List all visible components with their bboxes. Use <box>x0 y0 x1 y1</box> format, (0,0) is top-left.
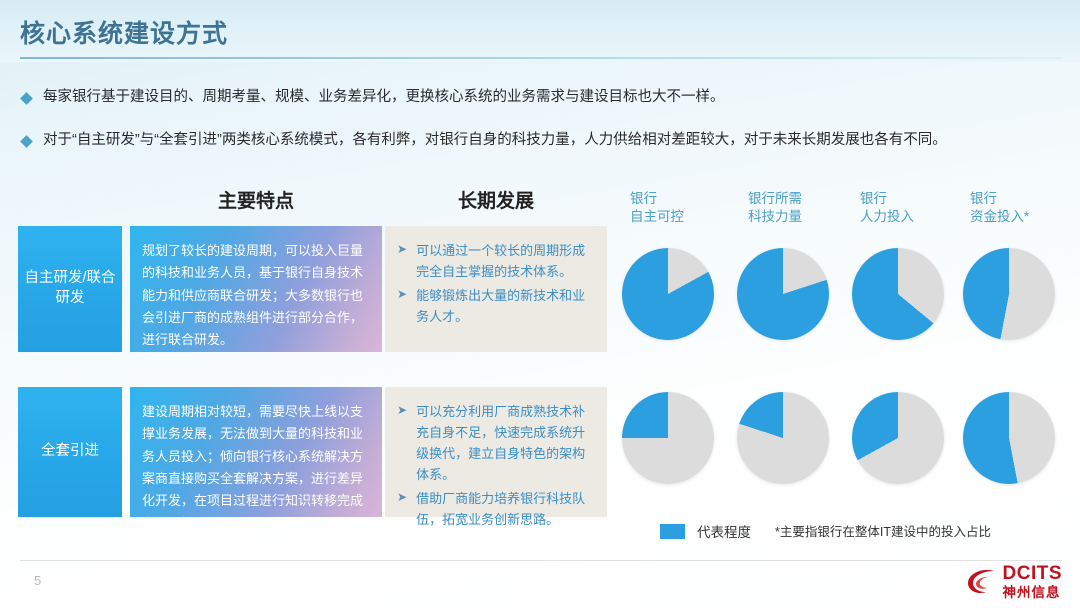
row-label-full-import: 全套引进 <box>18 387 122 517</box>
pie-chart-r0-c3 <box>963 248 1055 340</box>
long-term-text: 借助厂商能力培养银行科技队伍，拓宽业务创新思路。 <box>416 488 593 530</box>
pie-column-header-2: 银行 人力投入 <box>860 190 914 226</box>
page-title: 核心系统建设方式 <box>20 14 228 50</box>
arrow-bullet-icon: ➤ <box>397 488 407 507</box>
pie-header-line1: 银行 <box>970 190 1029 208</box>
legend-swatch-icon <box>660 524 685 539</box>
diamond-bullet-icon <box>20 92 33 105</box>
long-term-text: 可以充分利用厂商成熟技术补充自身不足，快速完成系统升级换代，建立自身特色的架构体… <box>416 401 593 485</box>
pie-chart-r0-c1 <box>737 248 829 340</box>
bullet-item-2: 对于“自主研发”与“全套引进”两类核心系统模式，各有利弊，对银行自身的科技力量，… <box>22 131 947 150</box>
row-description-full-import: 建设周期相对较短，需要尽快上线以支撑业务发展，无法做到大量的科技和业务人员投入；… <box>130 387 382 517</box>
footnote: *主要指银行在整体IT建设中的投入占比 <box>775 521 991 540</box>
pie-chart-r1-c3 <box>963 392 1055 484</box>
bullet-text-2: 对于“自主研发”与“全套引进”两类核心系统模式，各有利弊，对银行自身的科技力量，… <box>43 131 947 150</box>
slide-root: 核心系统建设方式 每家银行基于建设目的、周期考量、规模、业务差异化，更换核心系统… <box>0 0 1080 608</box>
row-label-self-developed: 自主研发/联合研发 <box>18 226 122 352</box>
logo-text: DCITS 神州信息 <box>1003 564 1063 600</box>
legend-label: 代表程度 <box>697 521 751 541</box>
pie-header-line2: 人力投入 <box>860 208 914 226</box>
diamond-bullet-icon <box>20 135 33 148</box>
long-term-item: ➤ 可以通过一个较长的周期形成完全自主掌握的技术体系。 <box>397 240 593 282</box>
long-term-item: ➤ 可以充分利用厂商成熟技术补充自身不足，快速完成系统升级换代，建立自身特色的架… <box>397 401 593 485</box>
pie-header-line2: 科技力量 <box>748 208 802 226</box>
pie-header-line1: 银行 <box>630 190 684 208</box>
row-long-term-self-developed: ➤ 可以通过一个较长的周期形成完全自主掌握的技术体系。 ➤ 能够锻炼出大量的新技… <box>385 226 607 352</box>
page-number: 5 <box>34 573 41 588</box>
pie-column-header-0: 银行 自主可控 <box>630 190 684 226</box>
row-description-self-developed: 规划了较长的建设周期，可以投入巨量的科技和业务人员，基于银行自身技术能力和供应商… <box>130 226 382 352</box>
dcits-swoosh-icon <box>964 565 998 599</box>
column-header-features: 主要特点 <box>130 186 382 213</box>
title-divider <box>20 57 1062 59</box>
pie-header-line2: 资金投入* <box>970 208 1029 226</box>
pie-header-line1: 银行 <box>860 190 914 208</box>
pie-chart-r1-c2 <box>852 392 944 484</box>
footer-divider <box>20 560 1062 561</box>
pie-chart-r1-c1 <box>737 392 829 484</box>
arrow-bullet-icon: ➤ <box>397 240 407 259</box>
row-long-term-full-import: ➤ 可以充分利用厂商成熟技术补充自身不足，快速完成系统升级换代，建立自身特色的架… <box>385 387 607 517</box>
pie-chart-r1-c0 <box>622 392 714 484</box>
long-term-item: ➤ 能够锻炼出大量的新技术和业务人才。 <box>397 285 593 327</box>
pie-column-header-1: 银行所需 科技力量 <box>748 190 802 226</box>
long-term-text: 可以通过一个较长的周期形成完全自主掌握的技术体系。 <box>416 240 593 282</box>
pie-header-line1: 银行所需 <box>748 190 802 208</box>
logo-text-cn: 神州信息 <box>1003 586 1063 600</box>
arrow-bullet-icon: ➤ <box>397 401 407 420</box>
company-logo: DCITS 神州信息 <box>964 564 1063 600</box>
pie-chart-r0-c2 <box>852 248 944 340</box>
legend: 代表程度 <box>660 521 751 541</box>
logo-text-en: DCITS <box>1003 564 1063 583</box>
pie-chart-r0-c0 <box>622 248 714 340</box>
long-term-item: ➤ 借助厂商能力培养银行科技队伍，拓宽业务创新思路。 <box>397 488 593 530</box>
column-header-long-term: 长期发展 <box>385 186 607 213</box>
pie-column-header-3: 银行 资金投入* <box>970 190 1029 226</box>
bullet-item-1: 每家银行基于建设目的、周期考量、规模、业务差异化，更换核心系统的业务需求与建设目… <box>22 88 725 107</box>
long-term-text: 能够锻炼出大量的新技术和业务人才。 <box>416 285 593 327</box>
arrow-bullet-icon: ➤ <box>397 285 407 304</box>
bullet-text-1: 每家银行基于建设目的、周期考量、规模、业务差异化，更换核心系统的业务需求与建设目… <box>43 88 725 107</box>
pie-header-line2: 自主可控 <box>630 208 684 226</box>
